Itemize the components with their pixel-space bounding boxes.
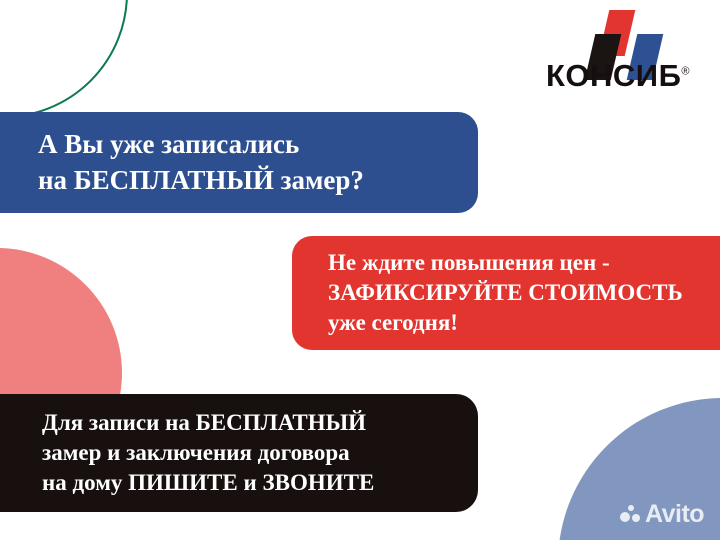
banner-black-line-3: на дому ПИШИТЕ и ЗВОНИТЕ	[42, 468, 478, 498]
banner-black-line-1: Для записи на БЕСПЛАТНЫЙ	[42, 408, 478, 438]
avito-dot-medium	[632, 514, 640, 522]
avito-dots-icon	[620, 505, 640, 525]
banner-red-line-1: Не ждите повышения цен -	[328, 248, 720, 278]
logo-wordmark-text: КОНСИБ	[546, 58, 681, 93]
banner-blue-line-1: А Вы уже записались	[38, 127, 478, 162]
banner-contact-instructions: Для записи на БЕСПЛАТНЫЙ замер и заключе…	[0, 394, 478, 512]
registered-trademark-icon: ®	[681, 66, 690, 78]
avito-watermark: Avito	[620, 500, 704, 529]
banner-price-lock-offer: Не ждите повышения цен - ЗАФИКСИРУЙТЕ СТ…	[292, 236, 720, 350]
brand-logo: КОНСИБ®	[528, 8, 708, 106]
avito-dot-large	[620, 512, 630, 522]
banner-black-line-2: замер и заключения договора	[42, 438, 478, 468]
avito-watermark-label: Avito	[645, 500, 704, 529]
avito-dot-small	[628, 505, 634, 511]
banner-free-measurement-question: А Вы уже записались на БЕСПЛАТНЫЙ замер?	[0, 112, 478, 213]
banner-blue-line-2: на БЕСПЛАТНЫЙ замер?	[38, 163, 478, 198]
green-ring-decoration	[0, 0, 128, 118]
banner-red-line-3: уже сегодня!	[328, 308, 720, 338]
banner-red-line-2: ЗАФИКСИРУЙТЕ СТОИМОСТЬ	[328, 278, 720, 308]
poster-canvas: КОНСИБ® А Вы уже записались на БЕСПЛАТНЫ…	[0, 0, 720, 540]
logo-wordmark: КОНСИБ®	[528, 58, 708, 94]
